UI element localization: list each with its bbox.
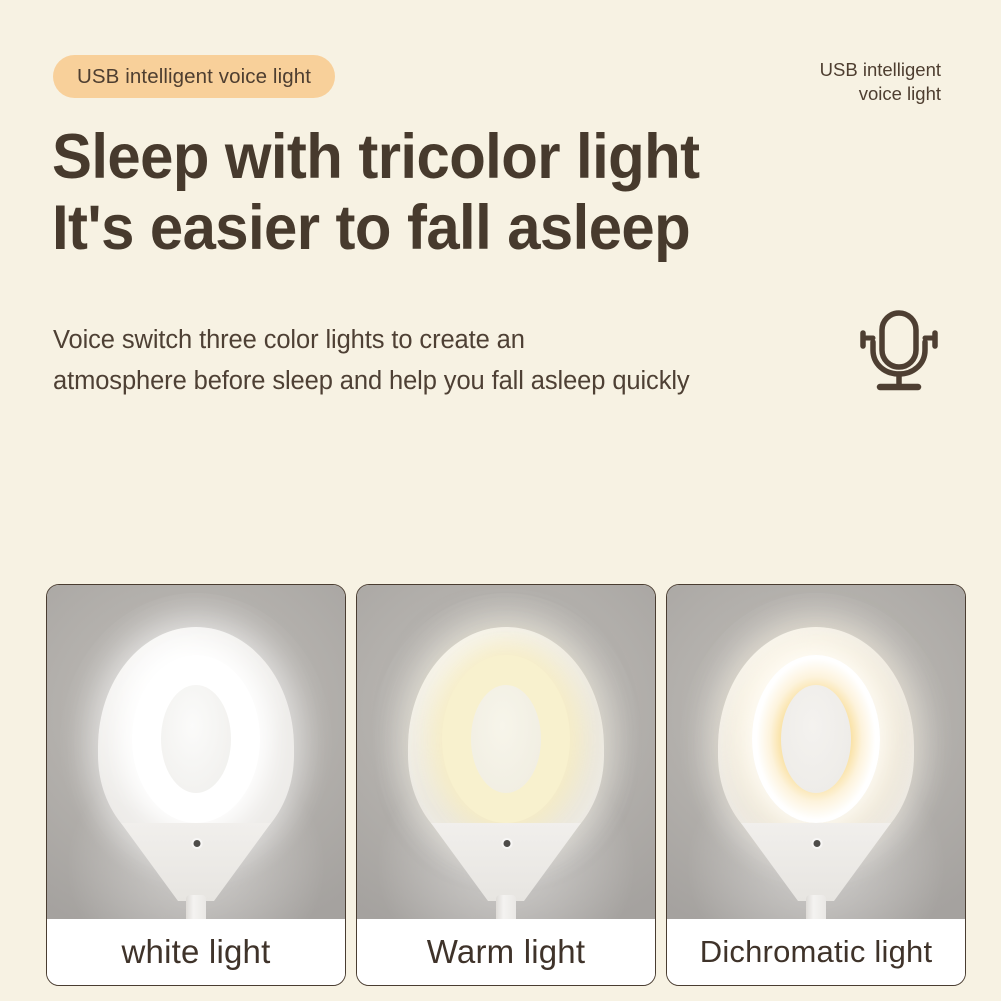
product-photo [357, 585, 655, 919]
product-card-white-light[interactable]: white light [46, 584, 346, 986]
product-ad-page: USB intelligent voice light USB intellig… [0, 0, 1001, 1001]
lamp-stem [186, 895, 206, 919]
sensor-dot [814, 840, 821, 847]
product-card-warm-light[interactable]: Warm light [356, 584, 656, 986]
light-ring-warm [442, 655, 570, 823]
microphone-icon [852, 308, 946, 396]
subcopy: Voice switch three color lights to creat… [53, 320, 873, 403]
headline-line-2: It's easier to fall asleep [52, 193, 699, 264]
product-variant-cards: white light Warm light [46, 584, 966, 986]
lamp-neck [741, 823, 891, 901]
card-caption: white light [47, 919, 345, 985]
card-caption: Warm light [357, 919, 655, 985]
lamp-stem [806, 895, 826, 919]
product-photo [47, 585, 345, 919]
sensor-dot [504, 840, 511, 847]
lamp-head [98, 627, 294, 857]
corner-brand-label: USB intelligent voice light [820, 58, 941, 105]
lamp-neck [121, 823, 271, 901]
ring-lamp [408, 627, 604, 919]
subcopy-line-2: atmosphere before sleep and help you fal… [53, 361, 873, 402]
lamp-stem [496, 895, 516, 919]
subcopy-line-1: Voice switch three color lights to creat… [53, 320, 873, 361]
product-photo [667, 585, 965, 919]
ring-lamp [98, 627, 294, 919]
light-ring-white [132, 655, 260, 823]
headline: Sleep with tricolor light It's easier to… [52, 122, 699, 263]
ring-lamp [718, 627, 914, 919]
sensor-dot [194, 840, 201, 847]
product-card-dichromatic-light[interactable]: Dichromatic light [666, 584, 966, 986]
product-badge: USB intelligent voice light [53, 55, 335, 98]
lamp-neck [431, 823, 581, 901]
product-badge-label: USB intelligent voice light [77, 65, 311, 89]
headline-line-1: Sleep with tricolor light [52, 122, 699, 193]
lamp-head [718, 627, 914, 857]
light-ring-dichromatic [752, 655, 880, 823]
lamp-head [408, 627, 604, 857]
card-caption: Dichromatic light [667, 919, 965, 985]
